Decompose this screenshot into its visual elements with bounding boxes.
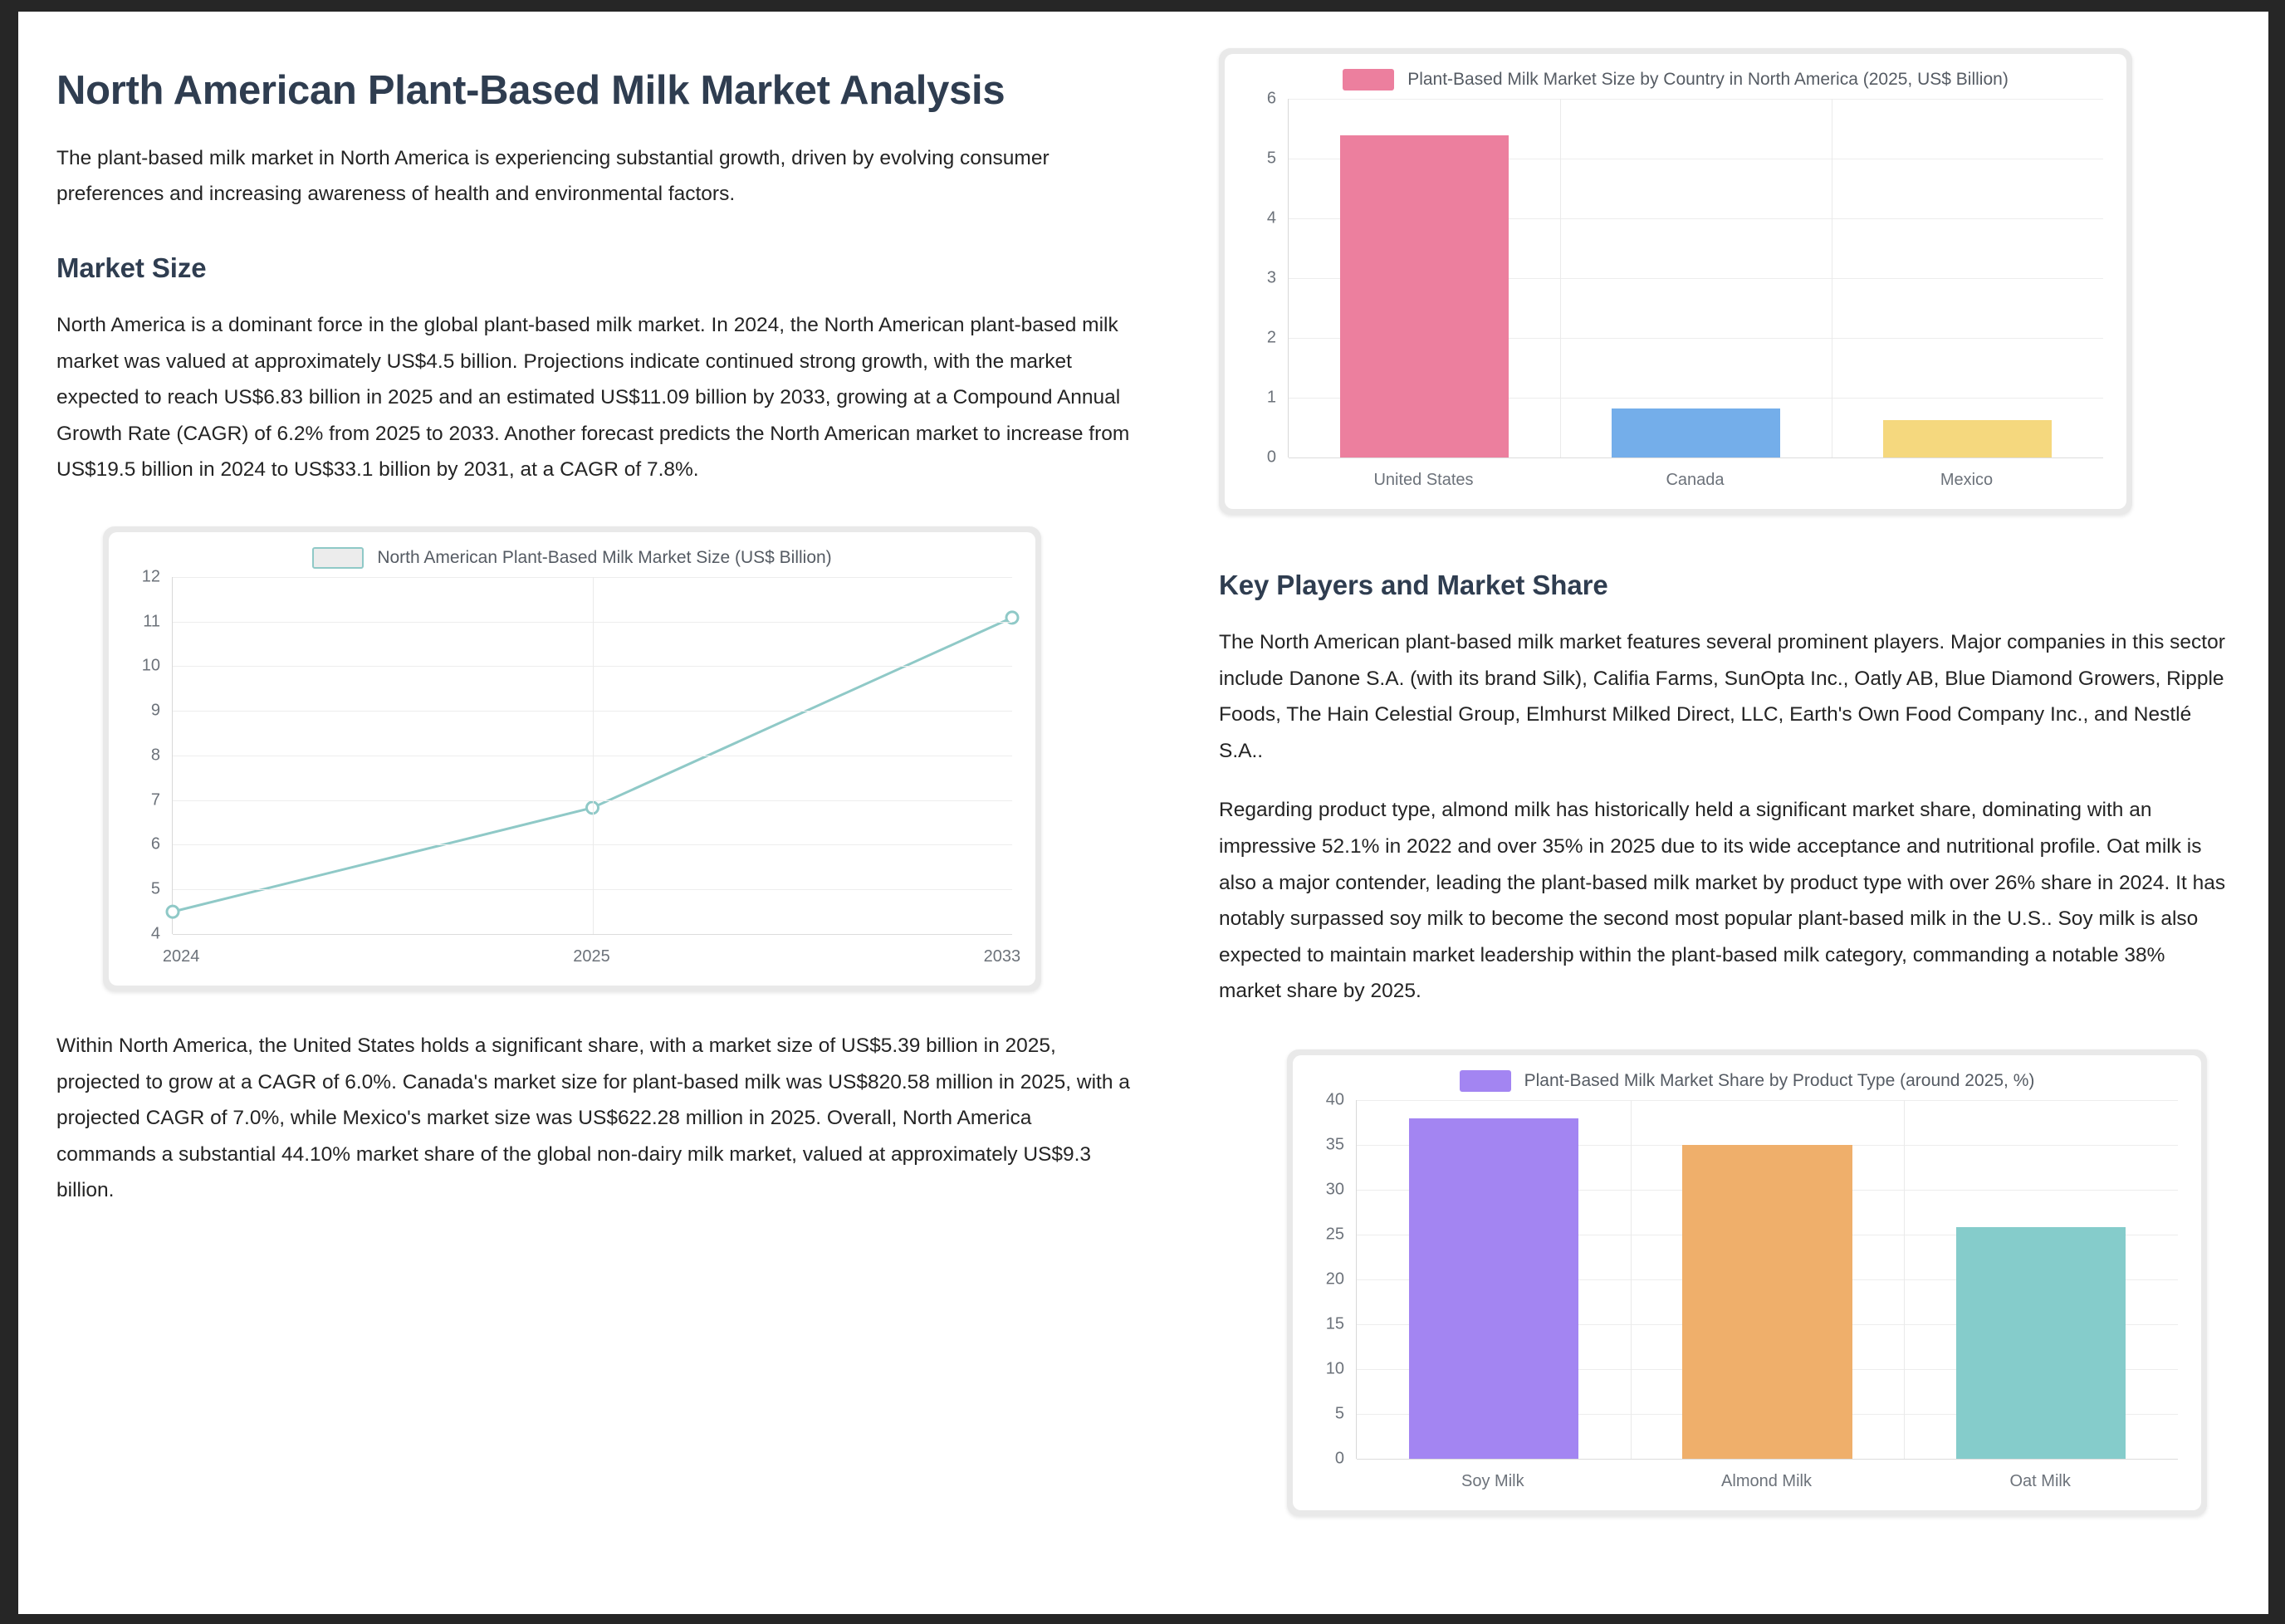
- chart-legend: North American Plant-Based Milk Market S…: [129, 547, 1015, 569]
- y-axis-tick-label: 6: [151, 835, 160, 854]
- intro-paragraph: The plant-based milk market in North Ame…: [56, 140, 1136, 213]
- y-axis-tick-label: 15: [1326, 1315, 1344, 1334]
- y-axis-tick-label: 10: [1326, 1360, 1344, 1379]
- grid-line: [1631, 1100, 1632, 1459]
- x-axis-tick-label: 2025: [573, 947, 610, 966]
- y-axis-tick-label: 9: [151, 702, 160, 721]
- y-axis-tick-label: 3: [1267, 269, 1276, 288]
- y-axis-tick-label: 0: [1335, 1450, 1344, 1469]
- x-axis-tick-label: 2024: [163, 947, 200, 966]
- bar-chart-plot-area: 0123456: [1245, 99, 2106, 457]
- chart-legend: Plant-Based Milk Market Size by Country …: [1245, 69, 2106, 90]
- y-axis-tick-label: 7: [151, 790, 160, 810]
- x-axis-tick-label: Almond Milk: [1721, 1472, 1812, 1491]
- y-axis-tick-label: 8: [151, 746, 160, 765]
- y-axis-tick-label: 5: [151, 880, 160, 899]
- grid-line: [1904, 1100, 1905, 1459]
- plot-grid: [1356, 1100, 2178, 1459]
- bar-chart-plot-area: 0510152025303540: [1313, 1100, 2181, 1459]
- y-axis-tick-label: 30: [1326, 1181, 1344, 1200]
- chart-country-market-size: Plant-Based Milk Market Size by Country …: [1219, 48, 2132, 515]
- y-axis-tick-label: 4: [151, 924, 160, 943]
- y-axis-tick-label: 10: [142, 657, 160, 676]
- y-axis-tick-label: 4: [1267, 209, 1276, 228]
- y-axis-tick-label: 35: [1326, 1136, 1344, 1155]
- bar: [1956, 1227, 2126, 1459]
- x-axis: United StatesCanadaMexico: [1288, 457, 2103, 496]
- x-axis-tick-label: Mexico: [1940, 471, 1993, 490]
- x-axis-tick-label: Soy Milk: [1461, 1472, 1524, 1491]
- x-axis-tick-label: United States: [1373, 471, 1473, 490]
- y-axis-tick-label: 6: [1267, 90, 1276, 109]
- two-column-layout: North American Plant-Based Milk Market A…: [18, 12, 2268, 1614]
- y-axis: 0123456: [1245, 99, 1283, 457]
- y-axis-tick-label: 11: [143, 612, 160, 631]
- grid-line: [593, 577, 594, 934]
- left-column: North American Plant-Based Milk Market A…: [56, 43, 1169, 1614]
- legend-swatch-icon: [1343, 69, 1394, 90]
- x-axis: 202420252033: [172, 934, 1012, 972]
- grid-line: [1560, 99, 1561, 457]
- bar: [1612, 408, 1780, 457]
- legend-swatch-icon: [312, 547, 364, 569]
- y-axis: 0510152025303540: [1313, 1100, 1351, 1459]
- y-axis-tick-label: 2: [1267, 329, 1276, 348]
- chart-na-market-size-trend: North American Plant-Based Milk Market S…: [103, 526, 1041, 991]
- y-axis-tick-label: 5: [1335, 1405, 1344, 1424]
- line-chart-plot-area: 456789101112: [129, 577, 1015, 934]
- y-axis-tick-label: 20: [1326, 1270, 1344, 1289]
- key-players-paragraph-1: The North American plant-based milk mark…: [1219, 624, 2230, 769]
- plot-grid: [1288, 99, 2103, 457]
- key-players-paragraph-2: Regarding product type, almond milk has …: [1219, 792, 2230, 1010]
- document-page: North American Plant-Based Milk Market A…: [18, 12, 2268, 1614]
- y-axis-tick-label: 0: [1267, 448, 1276, 467]
- y-axis-tick-label: 5: [1267, 149, 1276, 169]
- chart-legend: Plant-Based Milk Market Share by Product…: [1313, 1070, 2181, 1092]
- grid-line: [1357, 1100, 2178, 1101]
- market-size-paragraph-1: North America is a dominant force in the…: [56, 307, 1136, 488]
- y-axis-tick-label: 25: [1326, 1225, 1344, 1245]
- y-axis-tick-label: 12: [142, 567, 160, 586]
- legend-swatch-icon: [1460, 1070, 1511, 1092]
- y-axis: 456789101112: [129, 577, 167, 934]
- y-axis-tick-label: 40: [1326, 1091, 1344, 1110]
- grid-line: [1289, 99, 2103, 100]
- bar: [1682, 1145, 1852, 1459]
- x-axis-tick-label: Oat Milk: [2009, 1472, 2070, 1491]
- y-axis-tick-label: 1: [1267, 389, 1276, 408]
- heading-market-size: Market Size: [56, 252, 1169, 284]
- grid-line: [1832, 99, 1832, 457]
- market-size-paragraph-2: Within North America, the United States …: [56, 1028, 1136, 1209]
- x-axis: Soy MilkAlmond MilkOat Milk: [1356, 1459, 2178, 1497]
- legend-label: North American Plant-Based Milk Market S…: [377, 548, 831, 568]
- page-title: North American Plant-Based Milk Market A…: [56, 65, 1011, 117]
- legend-label: Plant-Based Milk Market Size by Country …: [1407, 70, 2009, 90]
- x-axis-tick-label: Canada: [1666, 471, 1724, 490]
- chart-product-type-share: Plant-Based Milk Market Share by Product…: [1287, 1049, 2207, 1516]
- heading-key-players: Key Players and Market Share: [1219, 570, 2230, 601]
- x-axis-tick-label: 2033: [984, 947, 1021, 966]
- bar: [1409, 1118, 1578, 1459]
- plot-grid: [172, 577, 1012, 934]
- right-column: Plant-Based Milk Market Size by Country …: [1219, 43, 2230, 1614]
- bar: [1883, 420, 2052, 457]
- bar: [1340, 135, 1509, 457]
- legend-label: Plant-Based Milk Market Share by Product…: [1524, 1071, 2035, 1091]
